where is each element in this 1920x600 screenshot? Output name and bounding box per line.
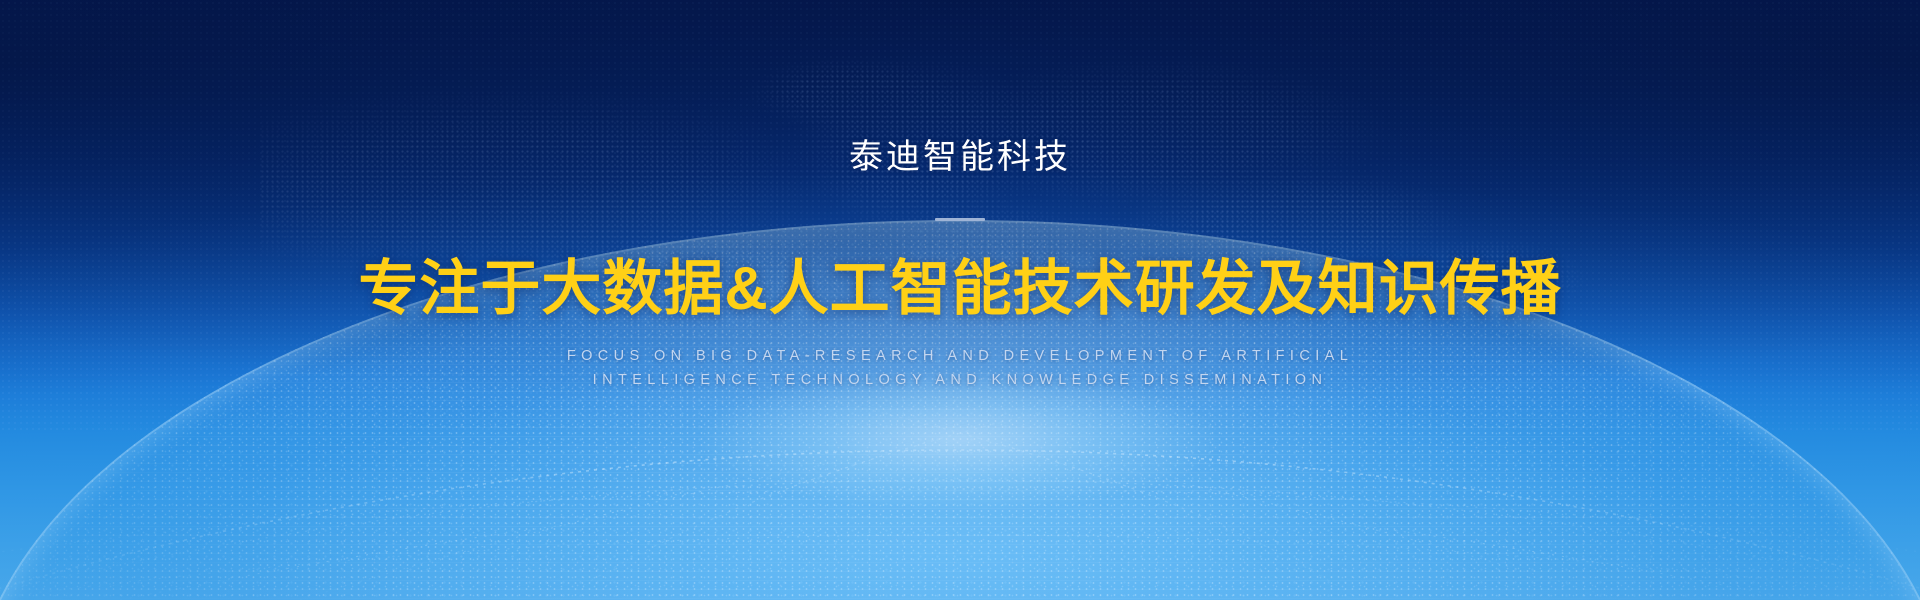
- headline-text: 专注于大数据&人工智能技术研发及知识传播: [358, 257, 1561, 322]
- subtitle-line-1: FOCUS ON BIG DATA-RESEARCH AND DEVELOPME…: [567, 348, 1353, 364]
- brand-title: 泰迪智能科技: [849, 140, 1071, 174]
- subtitle-line-2: INTELLIGENCE TECHNOLOGY AND KNOWLEDGE DI…: [567, 368, 1353, 392]
- banner-content: 泰迪智能科技 专注于大数据&人工智能技术研发及知识传播 FOCUS ON BIG…: [0, 0, 1920, 600]
- title-divider: [935, 218, 985, 221]
- hero-banner: 泰迪智能科技 专注于大数据&人工智能技术研发及知识传播 FOCUS ON BIG…: [0, 0, 1920, 600]
- subtitle-block: FOCUS ON BIG DATA-RESEARCH AND DEVELOPME…: [567, 344, 1353, 392]
